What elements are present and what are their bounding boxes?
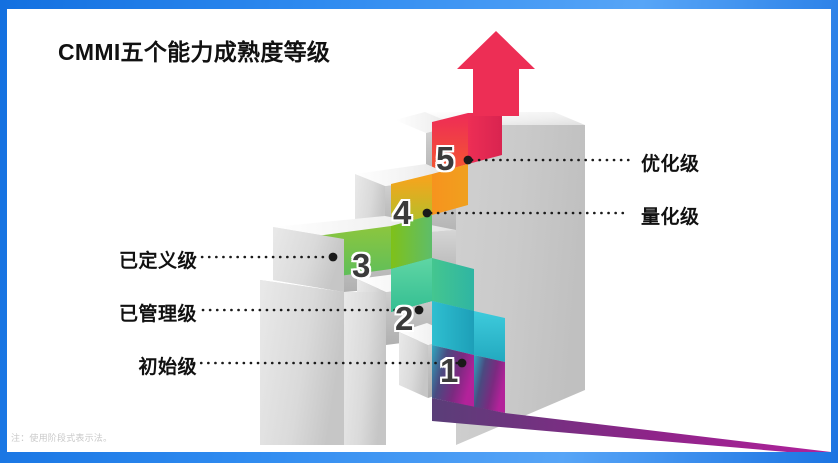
step-number-2-text: 2 [395,300,413,337]
level-label-optimizing: 优化级 [641,149,821,176]
up-arrow-icon [457,31,535,116]
step-number-1: 1 [440,354,458,387]
step-number-4-text: 4 [393,194,411,231]
connector-dot-2 [415,306,424,315]
level-label-quantitative: 量化级 [641,202,821,229]
slide-frame: CMMI五个能力成熟度等级 5 4 3 2 1 已定义级 已管理级 初始级 优化… [0,0,838,463]
level-label-defined: 已定义级 [17,246,197,273]
page-title: CMMI五个能力成熟度等级 [58,33,330,67]
step-number-3: 3 [352,249,370,282]
connector-dot-1 [458,359,467,368]
ribbon-base [432,345,831,452]
step-number-1-text: 1 [440,352,458,389]
connector-dot-5 [464,156,473,165]
step-number-3-text: 3 [352,247,370,284]
cmmi-staircase-diagram [7,9,831,452]
footnote: 注：使用阶段式表示法。 [11,431,112,444]
connector-dot-4 [423,209,432,218]
connector-dot-3 [329,253,338,262]
step-number-2: 2 [395,302,413,335]
step-number-5: 5 [436,142,454,175]
step-number-4: 4 [393,196,411,229]
level-label-initial: 初始级 [17,352,197,379]
step-number-5-text: 5 [436,140,454,177]
slide-canvas: CMMI五个能力成熟度等级 5 4 3 2 1 已定义级 已管理级 初始级 优化… [7,9,831,452]
level-label-managed: 已管理级 [17,299,197,326]
step-front-overlay [344,292,428,445]
